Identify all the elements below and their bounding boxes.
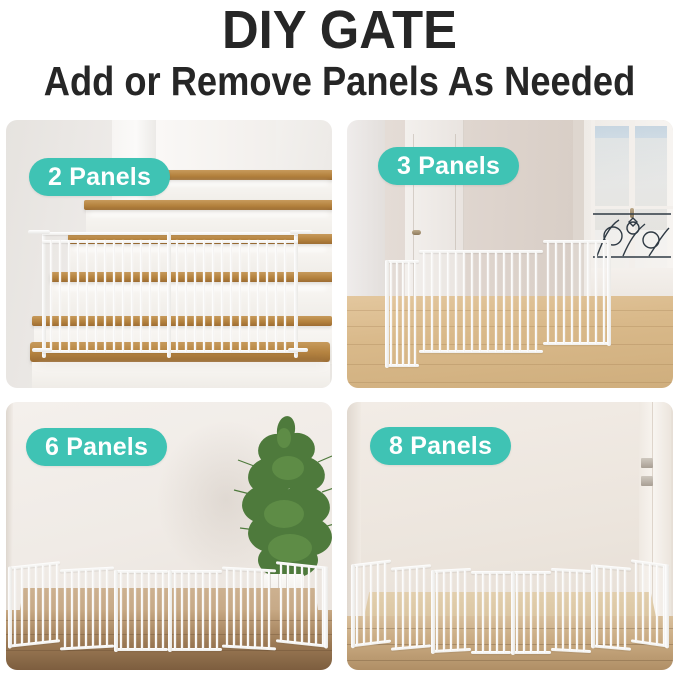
gate-bar bbox=[95, 240, 97, 352]
gate-mount-right-bottom bbox=[288, 348, 308, 352]
gate-post bbox=[431, 570, 435, 654]
gate-bar bbox=[28, 566, 30, 644]
gate-center-post bbox=[167, 232, 171, 358]
gate-bar bbox=[544, 573, 546, 653]
stair-shadow bbox=[36, 356, 326, 364]
gate-post bbox=[665, 564, 669, 649]
gate-bar bbox=[266, 240, 268, 352]
door-knob[interactable] bbox=[412, 230, 421, 235]
photo-grid: 2 Panels bbox=[6, 120, 673, 670]
page-subtitle: Add or Remove Panels As Needed bbox=[39, 58, 640, 103]
gate-post bbox=[8, 566, 12, 648]
gate-rail-bottom bbox=[419, 350, 543, 353]
gate-bar bbox=[42, 565, 44, 643]
gate-bar bbox=[423, 567, 425, 647]
gate-bar bbox=[195, 572, 197, 650]
gate-panel bbox=[419, 250, 543, 356]
gate-bar bbox=[56, 563, 58, 641]
gate-panel bbox=[276, 561, 328, 648]
gate-panel bbox=[168, 570, 222, 652]
gate-bar bbox=[402, 569, 404, 649]
gate-bar bbox=[68, 240, 70, 352]
gate-bar bbox=[443, 571, 445, 651]
gate-panel bbox=[551, 568, 591, 654]
gate-bar bbox=[64, 571, 66, 649]
gate-bar bbox=[519, 252, 521, 352]
gate-rail-bottom bbox=[543, 342, 611, 345]
page-title: DIY GATE bbox=[20, 0, 658, 58]
gate-bar bbox=[495, 252, 497, 352]
gate-bar bbox=[106, 569, 108, 647]
gate-bar bbox=[122, 240, 124, 352]
gate-bar bbox=[35, 566, 37, 644]
gate-bar bbox=[188, 572, 190, 650]
gate-panel bbox=[391, 564, 431, 651]
gate-bar bbox=[185, 240, 187, 352]
gate-bar bbox=[523, 573, 525, 653]
gate-bar bbox=[308, 567, 310, 645]
gate-bar bbox=[176, 240, 178, 352]
gate-bar bbox=[370, 564, 372, 644]
door-hinge bbox=[641, 458, 653, 468]
gate-bar bbox=[294, 565, 296, 643]
gate-bar bbox=[414, 262, 416, 366]
gate-panel bbox=[60, 567, 114, 652]
gate-bar bbox=[181, 572, 183, 650]
gate-panel bbox=[351, 560, 391, 649]
gate-assembly bbox=[8, 554, 330, 654]
gate-bar bbox=[104, 240, 106, 352]
gate-bar bbox=[233, 569, 235, 647]
gate-bar bbox=[496, 573, 498, 653]
gate-bar bbox=[14, 568, 16, 646]
gallery-cell-three-panels[interactable]: 3 Panels bbox=[347, 120, 673, 388]
gate-bar bbox=[230, 240, 232, 352]
panel-count-badge: 2 Panels bbox=[29, 158, 170, 196]
gate-bar bbox=[194, 240, 196, 352]
gate-post bbox=[351, 564, 355, 648]
gate-bar bbox=[663, 566, 665, 646]
gate-bar bbox=[537, 573, 539, 653]
gate-bar bbox=[149, 240, 151, 352]
gate-post-right bbox=[294, 232, 298, 358]
gate-bar bbox=[482, 573, 484, 653]
gate-bar bbox=[576, 571, 578, 651]
gate-bar bbox=[239, 240, 241, 352]
panel-count-badge: 6 Panels bbox=[26, 428, 167, 466]
gate-bar bbox=[464, 570, 466, 650]
gate-bar bbox=[113, 240, 115, 352]
gate-bar bbox=[202, 572, 204, 650]
gate-post bbox=[324, 566, 328, 648]
gate-bar bbox=[475, 573, 477, 653]
gate-bar bbox=[71, 571, 73, 649]
gate-bar bbox=[140, 240, 142, 352]
gate-panel bbox=[385, 260, 419, 368]
gate-bar bbox=[587, 242, 589, 344]
gallery-cell-two-panels[interactable]: 2 Panels bbox=[6, 120, 332, 388]
gate-bar bbox=[555, 242, 557, 344]
gate-bar bbox=[390, 262, 392, 366]
panel-count-badge: 8 Panels bbox=[370, 427, 511, 465]
gate-bar bbox=[408, 262, 410, 366]
gate-bar bbox=[457, 571, 459, 651]
gate-assembly bbox=[385, 248, 575, 368]
gate-bar bbox=[555, 570, 557, 650]
gate-bar bbox=[439, 252, 441, 352]
gate-bar bbox=[489, 573, 491, 653]
gate-bar bbox=[579, 242, 581, 344]
gate-bar bbox=[377, 563, 379, 643]
gate-bar bbox=[535, 252, 537, 352]
gate-panel bbox=[511, 571, 551, 655]
gate-rail-bottom bbox=[391, 644, 431, 650]
gate-bar bbox=[569, 571, 571, 651]
gate-bar bbox=[447, 252, 449, 352]
gate-bar bbox=[642, 563, 644, 643]
gate-bar bbox=[571, 242, 573, 344]
gate-bar bbox=[240, 570, 242, 648]
gate-mount-left bbox=[28, 230, 50, 234]
gate-bar bbox=[395, 569, 397, 649]
gate-panel bbox=[591, 564, 631, 651]
gate-bar bbox=[396, 262, 398, 366]
gate-bar bbox=[261, 571, 263, 649]
door-hinge bbox=[641, 476, 653, 486]
gate-panel bbox=[174, 240, 292, 352]
gate-bar bbox=[322, 568, 324, 646]
gate-bar bbox=[402, 262, 404, 366]
gate-bar bbox=[649, 564, 651, 644]
gate-panel bbox=[222, 567, 276, 652]
gate-rail-bottom bbox=[471, 651, 511, 654]
gate-bar bbox=[436, 572, 438, 652]
panel-count-badge: 3 Panels bbox=[378, 147, 519, 185]
gate-bar bbox=[248, 240, 250, 352]
gate-bar bbox=[595, 242, 597, 344]
gate-bar bbox=[431, 252, 433, 352]
gate-bar bbox=[562, 571, 564, 651]
gate-bar bbox=[221, 240, 223, 352]
gate-bar bbox=[656, 565, 658, 645]
gate-bar bbox=[99, 569, 101, 647]
gate-bar bbox=[85, 570, 87, 648]
stair-tread bbox=[154, 170, 332, 180]
gate-bar bbox=[127, 572, 129, 650]
gate-bar bbox=[86, 240, 88, 352]
gate-bar bbox=[268, 571, 270, 649]
gate-bar bbox=[148, 572, 150, 650]
gate-bar bbox=[423, 252, 425, 352]
stair-glow bbox=[158, 182, 328, 185]
gate-rail-bottom bbox=[551, 648, 591, 653]
gate-bar bbox=[49, 564, 51, 642]
gate-bar bbox=[450, 571, 452, 651]
gate-bar bbox=[530, 573, 532, 653]
gate-bar bbox=[610, 568, 612, 648]
gate-bar bbox=[455, 252, 457, 352]
gate-post-left bbox=[42, 232, 46, 358]
gate-bar bbox=[527, 252, 529, 352]
gate-bar bbox=[275, 240, 277, 352]
gate-bar bbox=[120, 572, 122, 650]
stair-riser bbox=[32, 362, 330, 388]
gate-bar bbox=[158, 240, 160, 352]
gate-rail-top bbox=[471, 571, 511, 574]
product-infographic: DIY GATE Add or Remove Panels As Needed bbox=[0, 0, 679, 674]
gate-bar bbox=[315, 567, 317, 645]
gate-bar bbox=[287, 564, 289, 642]
gate-bar bbox=[59, 240, 61, 352]
gate-bar bbox=[624, 569, 626, 649]
gate-panel bbox=[631, 559, 669, 648]
gate-bar bbox=[216, 572, 218, 650]
gallery-cell-six-panels[interactable]: 6 Panels bbox=[6, 402, 332, 670]
gate-bar bbox=[134, 572, 136, 650]
gate-post bbox=[385, 260, 389, 368]
gate-panel bbox=[431, 568, 471, 654]
floor-plank bbox=[347, 382, 673, 383]
gate-assembly bbox=[42, 228, 298, 356]
gate-rail-top bbox=[551, 568, 591, 573]
gate-bar bbox=[603, 242, 605, 344]
gate-bar bbox=[363, 565, 365, 645]
gate-bar bbox=[583, 572, 585, 652]
gate-rail-top bbox=[543, 240, 611, 243]
gate-bar bbox=[516, 573, 518, 653]
gallery-cell-eight-panels[interactable]: 8 Panels bbox=[347, 402, 673, 670]
gate-panel bbox=[114, 570, 168, 652]
gate-panel bbox=[543, 240, 611, 348]
gate-rail-top bbox=[391, 564, 431, 570]
gate-post bbox=[511, 571, 515, 655]
gate-bar bbox=[212, 240, 214, 352]
gate-bar bbox=[416, 567, 418, 647]
gate-bar bbox=[257, 240, 259, 352]
gate-bar bbox=[162, 572, 164, 650]
gate-bar bbox=[487, 252, 489, 352]
gate-bar bbox=[356, 566, 358, 646]
stair-tread bbox=[84, 200, 332, 210]
gate-bar bbox=[78, 570, 80, 648]
gate-bar bbox=[226, 569, 228, 647]
gate-bar bbox=[203, 240, 205, 352]
gate-post bbox=[168, 570, 172, 652]
gate-bar bbox=[617, 569, 619, 649]
gate-bar bbox=[563, 242, 565, 344]
gate-mount-left-bottom bbox=[32, 348, 52, 352]
gate-bar bbox=[77, 240, 79, 352]
gate-post bbox=[607, 240, 611, 346]
floor-plank bbox=[347, 660, 673, 661]
gate-panel bbox=[471, 571, 511, 655]
gate-mount-right bbox=[290, 230, 312, 234]
gate-bar bbox=[50, 240, 52, 352]
gate-bar bbox=[409, 568, 411, 648]
gate-bar bbox=[209, 572, 211, 650]
gate-bar bbox=[155, 572, 157, 650]
gate-bar bbox=[463, 252, 465, 352]
gate-bar bbox=[547, 242, 549, 344]
gate-bar bbox=[21, 567, 23, 645]
gate-bar bbox=[284, 240, 286, 352]
gate-post bbox=[114, 570, 118, 652]
gate-bar bbox=[471, 252, 473, 352]
gate-bar bbox=[92, 570, 94, 648]
gate-bar bbox=[254, 570, 256, 648]
gate-bar bbox=[174, 572, 176, 650]
gate-bar bbox=[247, 570, 249, 648]
gate-assembly bbox=[351, 554, 669, 654]
heading-block: DIY GATE Add or Remove Panels As Needed bbox=[0, 0, 679, 103]
gate-bar bbox=[384, 562, 386, 642]
gate-bar bbox=[511, 252, 513, 352]
gate-bar bbox=[479, 252, 481, 352]
gate-post bbox=[591, 564, 595, 648]
gate-panel bbox=[48, 240, 166, 352]
gate-bar bbox=[131, 240, 133, 352]
gate-bar bbox=[141, 572, 143, 650]
gate-bar bbox=[503, 573, 505, 653]
gate-bar bbox=[603, 567, 605, 647]
gate-bar bbox=[503, 252, 505, 352]
gate-bar bbox=[596, 567, 598, 647]
gate-bar bbox=[280, 564, 282, 642]
gate-bar bbox=[635, 562, 637, 642]
gate-bar bbox=[301, 566, 303, 644]
gate-panel bbox=[8, 561, 60, 648]
stair-glow bbox=[90, 213, 328, 216]
gate-rail-top bbox=[419, 250, 543, 253]
